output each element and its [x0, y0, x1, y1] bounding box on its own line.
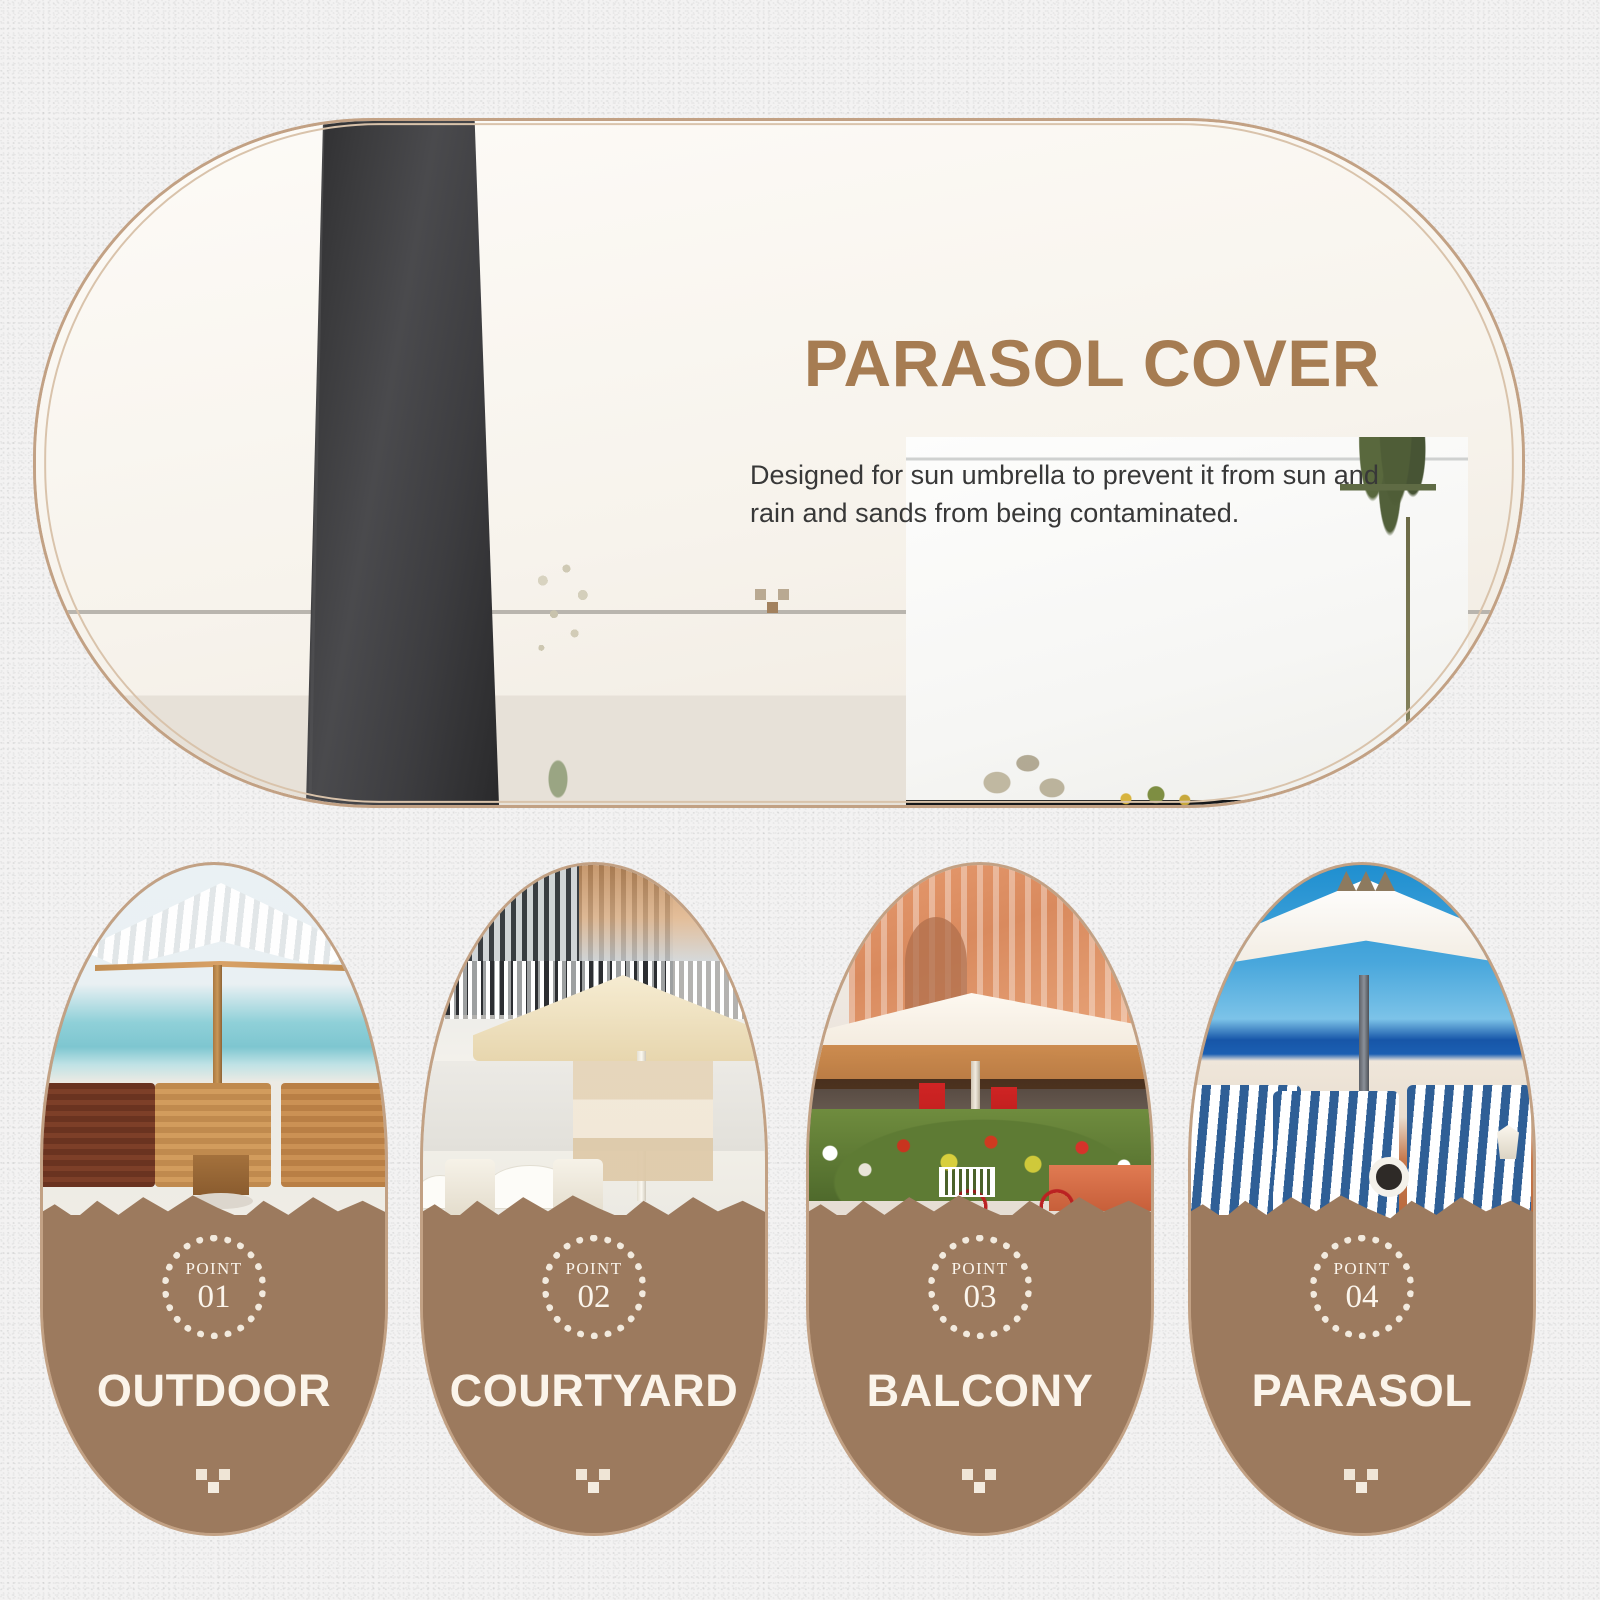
parasol-cover-product — [298, 118, 508, 808]
wall-twig-icon — [528, 559, 602, 679]
point-badge-number: 03 — [928, 1279, 1032, 1316]
point-badge-label: POINT — [1310, 1259, 1414, 1279]
triple-square-ornament-icon — [753, 589, 793, 615]
point-badge: POINT 03 — [928, 1235, 1032, 1339]
point-badge-label: POINT — [542, 1259, 646, 1279]
point-badge-label: POINT — [928, 1259, 1032, 1279]
hero-subtitle: Designed for sun umbrella to prevent it … — [750, 456, 1430, 533]
lounger-icon — [281, 1083, 388, 1187]
shrub-icon — [506, 741, 636, 808]
umbrella-tip-icon — [1337, 871, 1395, 891]
card-title: BALCONY — [809, 1365, 1151, 1417]
feature-card-outdoor[interactable]: POINT 01 OUTDOOR — [40, 862, 388, 1536]
card-photo-parasol — [1191, 865, 1533, 1215]
point-badge: POINT 01 — [162, 1235, 266, 1339]
point-badge-number: 04 — [1310, 1279, 1414, 1316]
life-ring-icon — [1369, 1157, 1409, 1197]
card-title: OUTDOOR — [43, 1365, 385, 1417]
card-photo-balcony — [809, 865, 1151, 1215]
triple-square-ornament-icon — [960, 1469, 1000, 1495]
triple-square-ornament-icon — [194, 1469, 234, 1495]
cafe-chair-icon — [445, 1159, 495, 1215]
feature-cards-row: POINT 01 OUTDOOR — [0, 862, 1600, 1552]
building-upper-icon — [579, 865, 768, 961]
card-title: COURTYARD — [423, 1365, 765, 1417]
page-title: PARASOL COVER — [742, 325, 1442, 401]
card-title: PARASOL — [1191, 1365, 1533, 1417]
card-photo-courtyard — [423, 865, 765, 1215]
hero-panel: PARASOL COVER Designed for sun umbrella … — [33, 118, 1525, 808]
inset-vine-stem-icon — [1406, 517, 1410, 807]
feature-card-parasol[interactable]: POINT 04 PARASOL — [1188, 862, 1536, 1536]
point-badge: POINT 02 — [542, 1235, 646, 1339]
white-umbrella-icon — [1203, 879, 1529, 989]
triple-square-ornament-icon — [574, 1469, 614, 1495]
inset-plant-left-icon — [964, 721, 1074, 808]
product-infographic-page: PARASOL COVER Designed for sun umbrella … — [0, 0, 1600, 1600]
point-badge: POINT 04 — [1310, 1235, 1414, 1339]
feature-card-courtyard[interactable]: POINT 02 COURTYARD — [420, 862, 768, 1536]
bicycle-basket-icon — [939, 1167, 995, 1197]
point-badge-number: 01 — [162, 1279, 266, 1316]
dry-grass-icon — [656, 781, 836, 808]
point-badge-label: POINT — [162, 1259, 266, 1279]
side-table-icon — [193, 1155, 249, 1195]
card-photo-outdoor — [43, 865, 385, 1215]
point-badge-number: 02 — [542, 1279, 646, 1316]
lounger-icon — [40, 1083, 155, 1187]
feature-card-balcony[interactable]: POINT 03 BALCONY — [806, 862, 1154, 1536]
inset-flower-icon — [1096, 775, 1216, 808]
arched-window-icon — [905, 917, 967, 1009]
triple-square-ornament-icon — [1342, 1469, 1382, 1495]
